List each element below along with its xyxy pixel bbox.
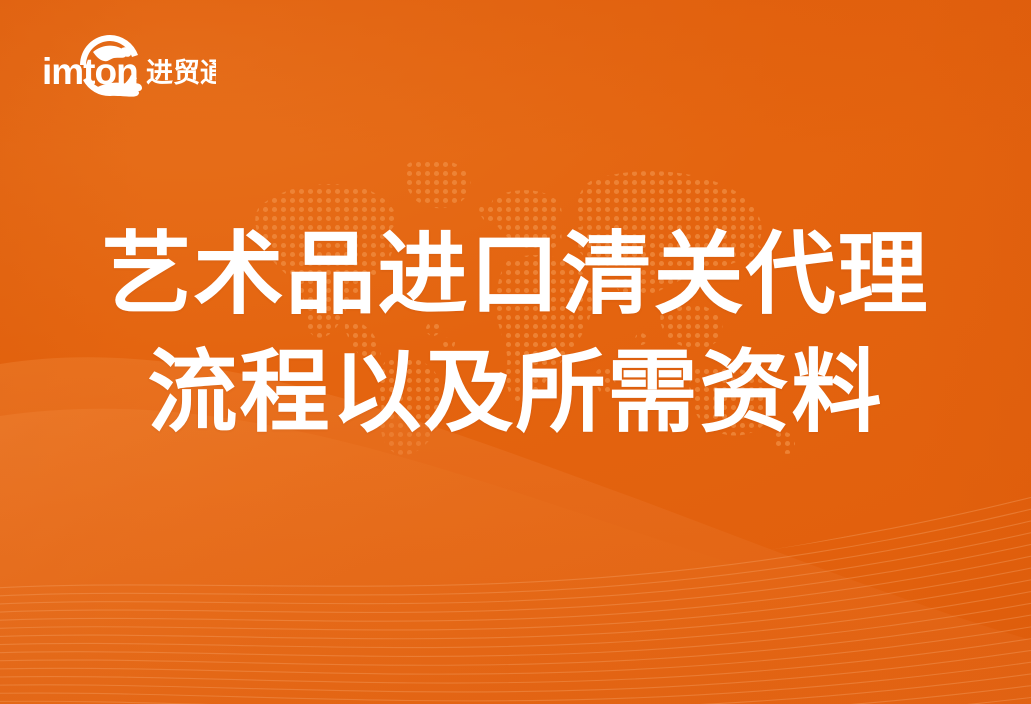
page-title: 艺术品进口清关代理 流程以及所需资料 (0, 216, 1031, 452)
title-line-2: 流程以及所需资料 (0, 334, 1031, 452)
brand-logo[interactable]: imton 进贸通 ® (38, 26, 216, 104)
promo-banner: imton 进贸通 ® 艺术品进口清关代理 流程以及所需资料 (0, 0, 1031, 704)
title-line-1: 艺术品进口清关代理 (0, 216, 1031, 334)
logo-chinese-text: 进贸通 (146, 58, 216, 88)
logo-latin-text: imton (42, 51, 138, 92)
